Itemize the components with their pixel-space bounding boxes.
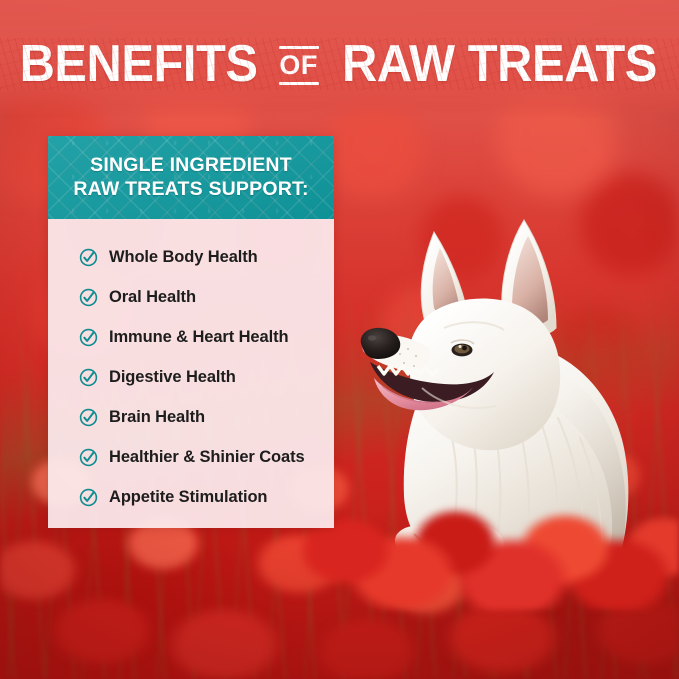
benefit-label: Appetite Stimulation [109,488,267,507]
headline-connector-of: OF [279,46,319,85]
check-circle-icon [79,448,98,467]
benefit-label: Brain Health [109,408,205,427]
benefits-list: Whole Body Health Oral Health [48,219,334,528]
headline-word-benefits: BENEFITS [20,38,258,90]
benefit-item: Oral Health [79,277,334,317]
card-title-line-2: RAW TREATS SUPPORT: [73,178,308,202]
benefit-label: Immune & Heart Health [109,328,288,347]
benefits-card: SINGLE INGREDIENT RAW TREATS SUPPORT: Wh… [48,136,334,528]
benefit-label: Digestive Health [109,368,236,387]
benefit-label: Oral Health [109,288,196,307]
check-circle-icon [79,248,98,267]
check-circle-icon [79,408,98,427]
check-circle-icon [79,488,98,507]
connector-rule-top [279,46,319,49]
infographic-canvas: BENEFITS OF RAW TREATS SINGLE INGREDIENT… [0,0,679,679]
foreground-poppies [300,470,679,610]
check-circle-icon [79,328,98,347]
benefit-item: Whole Body Health [79,237,334,277]
benefits-card-title: SINGLE INGREDIENT RAW TREATS SUPPORT: [63,154,318,202]
check-circle-icon [79,368,98,387]
benefit-label: Healthier & Shinier Coats [109,448,305,467]
headline-word-raw-treats: RAW TREATS [342,38,657,90]
benefit-item: Brain Health [79,397,334,437]
benefit-item: Appetite Stimulation [79,477,334,517]
headline-connector-label: OF [279,52,318,79]
check-circle-icon [79,288,98,307]
benefits-card-header: SINGLE INGREDIENT RAW TREATS SUPPORT: [48,136,334,219]
headline: BENEFITS OF RAW TREATS [0,38,679,90]
benefit-item: Immune & Heart Health [79,317,334,357]
card-title-line-1: SINGLE INGREDIENT [73,154,308,178]
benefit-item: Digestive Health [79,357,334,397]
benefit-label: Whole Body Health [109,248,258,267]
connector-rule-bottom [279,82,319,85]
benefit-item: Healthier & Shinier Coats [79,437,334,477]
